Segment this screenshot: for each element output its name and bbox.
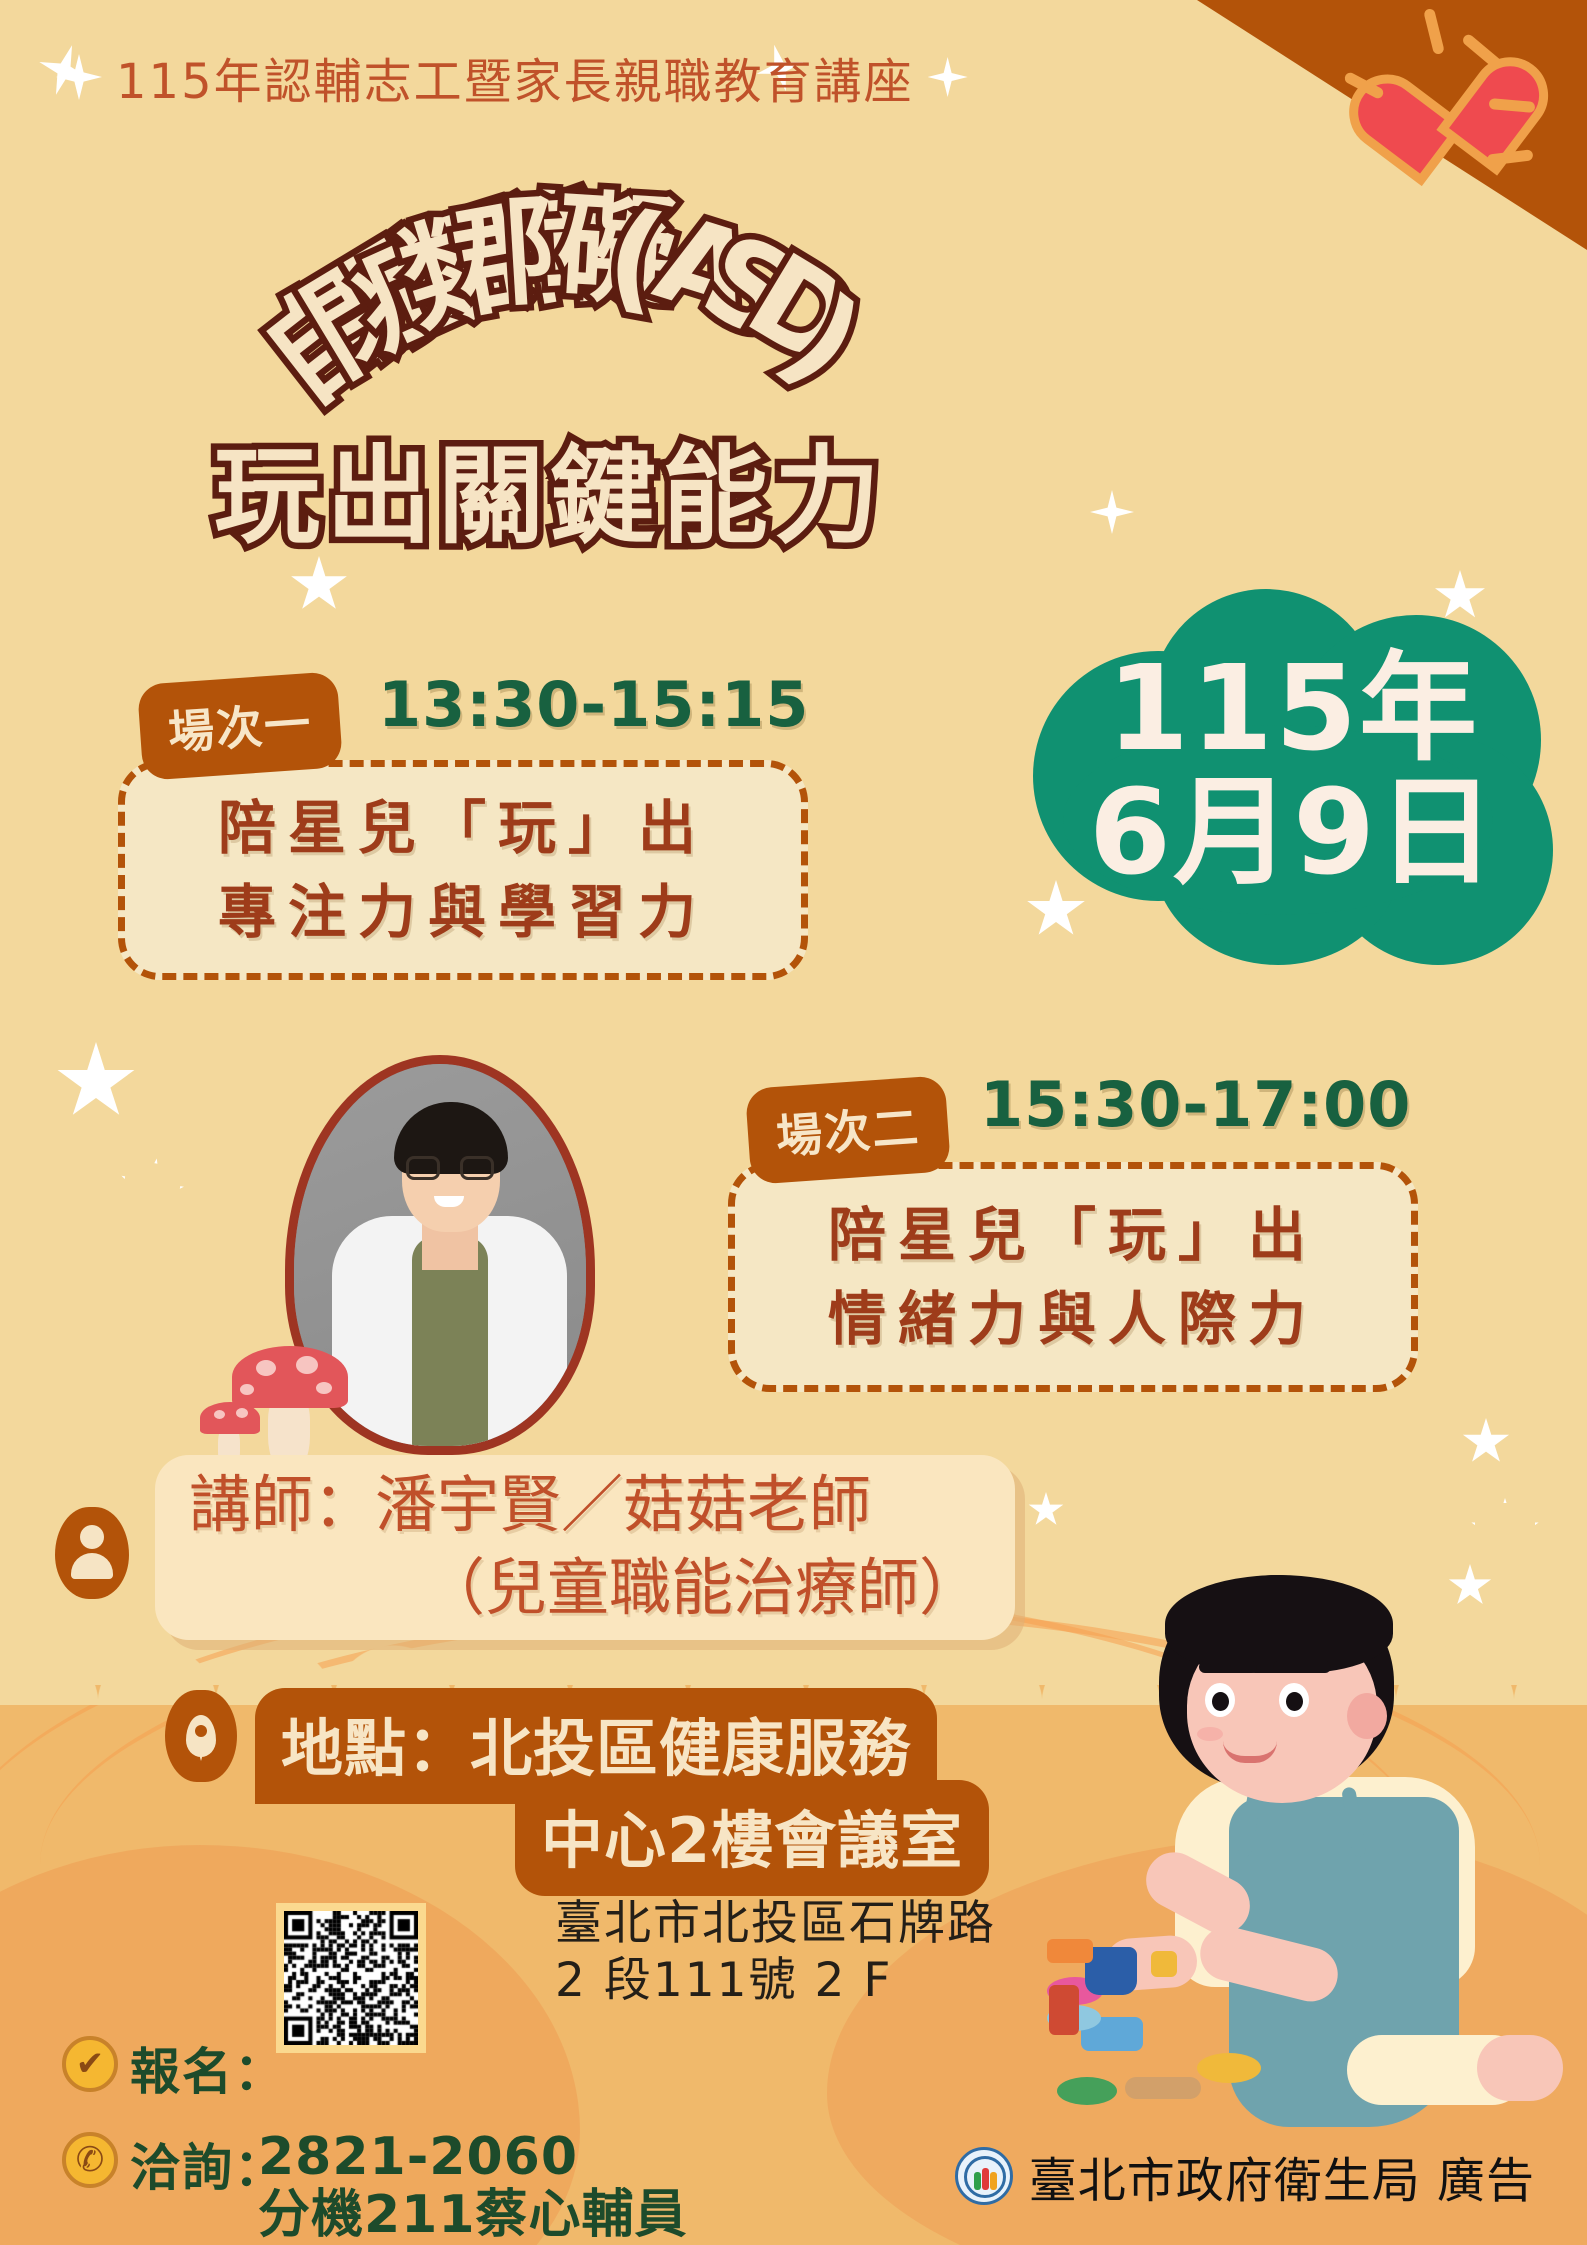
register-label: 報名： xyxy=(130,2032,286,2104)
toy-icon xyxy=(1047,1939,1093,1963)
footer-text: 臺北市政府衛生局 廣告 xyxy=(1029,2141,1535,2211)
phone-number: 2821-2060 xyxy=(258,2126,578,2188)
person-icon xyxy=(55,1507,129,1599)
header: 115年認輔志工暨家長親職教育講座 xyxy=(56,42,968,112)
address-line-1: 臺北市北投區石牌路 xyxy=(555,1895,996,1952)
speaker-block: 講師：潘宇賢／菇菇老師 （兒童職能治療師） xyxy=(55,1455,1015,1640)
star-icon xyxy=(56,54,102,100)
address-line-2: 2 段111號 2 F xyxy=(555,1952,996,2009)
location-line-2: 中心2樓會議室 xyxy=(515,1780,989,1896)
session-1-body: 陪星兒「玩」出 專注力與學習力 xyxy=(118,760,808,980)
child-playing-illustration xyxy=(1047,1565,1567,2165)
session-1-title-line2: 專注力與學習力 xyxy=(218,870,708,954)
date-year: 115年 xyxy=(1107,648,1479,768)
speaker-role: （兒童職能治療師） xyxy=(189,1547,981,1629)
phone-extension: 分機211蔡心輔員 xyxy=(258,2184,688,2245)
taipei-health-department-logo xyxy=(955,2147,1013,2205)
toy-icon xyxy=(1125,2077,1201,2099)
session-2-title-line1: 陪星兒「玩」出 xyxy=(828,1193,1318,1277)
check-circle-icon: ✔ xyxy=(62,2036,118,2092)
poster-root: 115年認輔志工暨家長親職教育講座 自閉症類群障礙(ASD) 玩出關鍵能力 11… xyxy=(0,0,1587,2245)
map-pin-icon xyxy=(165,1690,237,1782)
footer: 臺北市政府衛生局 廣告 xyxy=(955,2141,1535,2211)
location-address: 臺北市北投區石牌路 2 段111號 2 F xyxy=(555,1895,996,2010)
session-1-title-line1: 陪星兒「玩」出 xyxy=(218,786,708,870)
session-2-chip: 場次二 xyxy=(745,1075,951,1185)
session-2-time: 15:30-17:00 xyxy=(980,1068,1411,1141)
toy-icon xyxy=(1197,2053,1261,2083)
header-title: 115年認輔志工暨家長親職教育講座 xyxy=(116,42,914,112)
session-1-time: 13:30-15:15 xyxy=(378,668,809,741)
star-icon xyxy=(928,57,968,97)
registration-qr-code[interactable] xyxy=(276,1903,426,2053)
page-title-arc: 自閉症類群障礙(ASD) xyxy=(0,120,1180,410)
date-monthday: 6月9日 xyxy=(1089,772,1497,892)
session-1-chip: 場次一 xyxy=(137,671,343,781)
speaker-name: 講師：潘宇賢／菇菇老師 xyxy=(189,1464,981,1546)
toy-icon xyxy=(1151,1951,1177,1977)
page-subtitle: 玩出關鍵能力 xyxy=(0,410,1100,564)
toy-icon xyxy=(1049,1985,1079,2035)
session-2-body: 陪星兒「玩」出 情緒力與人際力 xyxy=(728,1162,1418,1392)
heart-icon xyxy=(1319,22,1549,232)
phone-circle-icon: ✆ xyxy=(62,2132,118,2188)
toy-icon xyxy=(1057,2077,1117,2105)
session-2-title-line2: 情緒力與人際力 xyxy=(828,1277,1318,1361)
date-badge: 115年 6月9日 xyxy=(1023,575,1563,965)
